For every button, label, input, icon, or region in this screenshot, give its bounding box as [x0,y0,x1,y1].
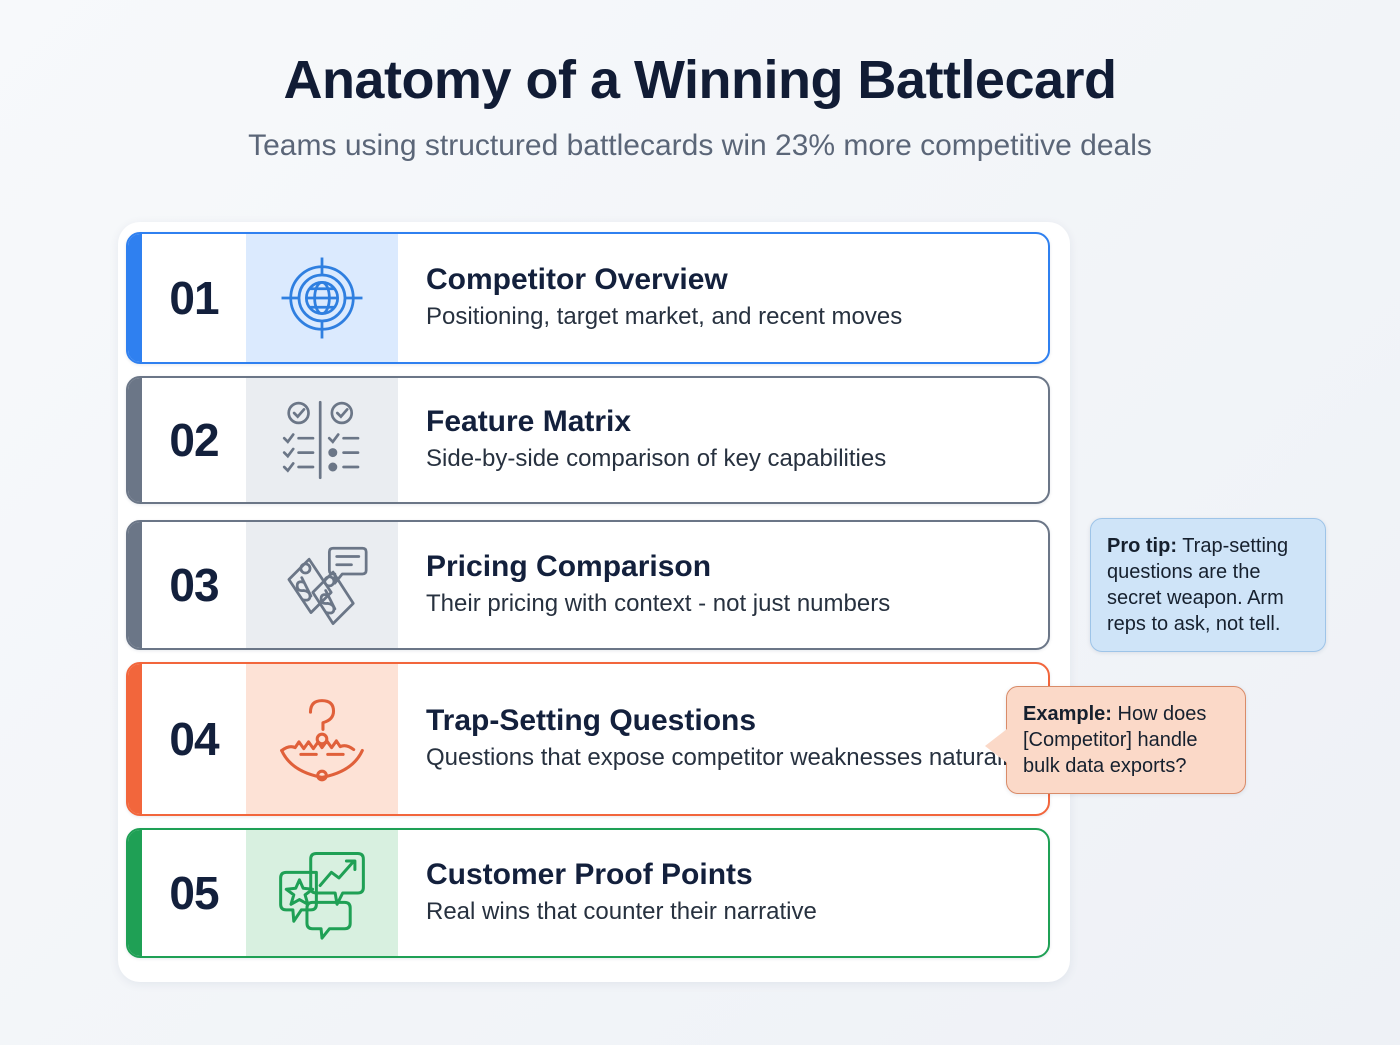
row-text: Trap-Setting Questions Questions that ex… [398,664,1048,814]
row-text: Customer Proof Points Real wins that cou… [398,830,1048,956]
checklist-comparison-icon [246,378,398,502]
price-tags-icon [246,522,398,648]
row-description: Real wins that counter their narrative [426,896,1030,928]
row-title: Pricing Comparison [426,550,1030,585]
row-description: Their pricing with context - not just nu… [426,588,1030,620]
row-number: 04 [142,664,246,814]
row-text: Competitor Overview Positioning, target … [398,234,1048,362]
page-header: Anatomy of a Winning Battlecard Teams us… [0,0,1400,162]
callout-tail [985,729,1007,763]
row-number: 05 [142,830,246,956]
speech-bubbles-star-chart-icon [246,830,398,956]
pro-tip-label: Pro tip: [1107,535,1177,557]
globe-target-icon [246,234,398,362]
page-subtitle: Teams using structured battlecards win 2… [0,129,1400,162]
row-accent-bar [128,522,142,648]
row-title: Customer Proof Points [426,858,1030,893]
row-text: Pricing Comparison Their pricing with co… [398,522,1048,648]
row-accent-bar [128,830,142,956]
pro-tip-callout: Pro tip: Trap-setting questions are the … [1090,518,1326,652]
row-accent-bar [128,378,142,502]
row-description: Side-by-side comparison of key capabilit… [426,443,1030,475]
row-title: Competitor Overview [426,263,1030,298]
battlecard-row-1[interactable]: 01 Competitor Overview P [126,232,1050,364]
row-number: 02 [142,378,246,502]
row-number: 03 [142,522,246,648]
battlecard-row-2[interactable]: 02 [126,376,1050,504]
row-description: Questions that expose competitor weaknes… [426,742,1030,774]
bear-trap-question-icon [246,664,398,814]
row-number: 01 [142,234,246,362]
row-description: Positioning, target market, and recent m… [426,301,1030,333]
battlecard-stack-container: 01 Competitor Overview P [118,222,1070,982]
row-text: Feature Matrix Side-by-side comparison o… [398,378,1048,502]
row-accent-bar [128,234,142,362]
battlecard-row-5[interactable]: 05 Customer Proof Points Real wins that … [126,828,1050,958]
row-title: Feature Matrix [426,405,1030,440]
example-callout: Example: How does [Competitor] handle bu… [1006,686,1246,794]
battlecard-row-4[interactable]: 04 Trap-Setting Questions Questions that… [126,662,1050,816]
example-label: Example: [1023,703,1112,725]
row-accent-bar [128,664,142,814]
battlecard-row-3[interactable]: 03 Pricing Comparison Their pricing with… [126,520,1050,650]
page-title: Anatomy of a Winning Battlecard [0,52,1400,109]
row-title: Trap-Setting Questions [426,704,1030,739]
